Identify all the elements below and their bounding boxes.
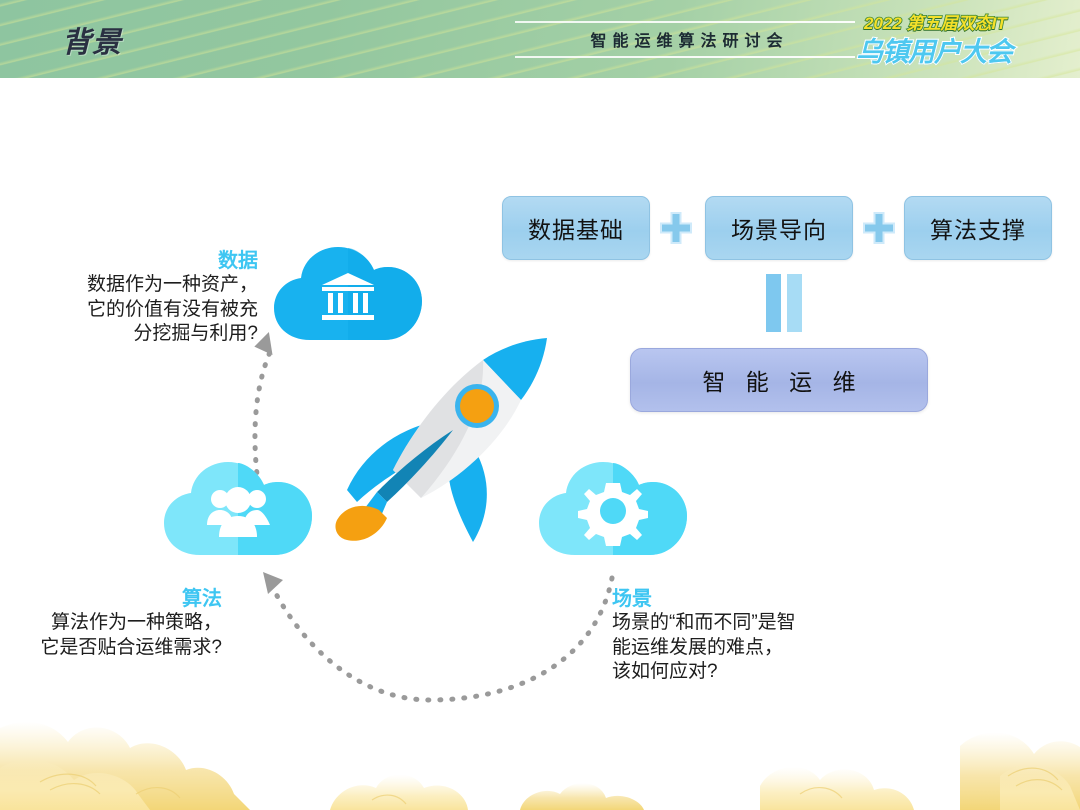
header-subtitle: 智能运维算法研讨会 bbox=[515, 27, 860, 51]
rocket-illustration bbox=[325, 330, 555, 565]
header-rule-top bbox=[515, 21, 855, 23]
formula-term-data: 数据基础 bbox=[502, 196, 650, 260]
pillar-desc-algorithm: 算法作为一种策略， 它是否贴合运维需求? bbox=[0, 611, 222, 660]
logo-line-2: 乌镇用户大会 bbox=[856, 30, 1012, 69]
page-title: 背景 bbox=[62, 19, 122, 61]
conference-logo: 2022 第五届双态IT 乌镇用户大会 bbox=[856, 9, 1026, 69]
formula-result-label: 智 能 运 维 bbox=[695, 363, 862, 397]
pillar-cloud-scene bbox=[533, 455, 693, 570]
formula-term-scene: 场景导向 bbox=[705, 196, 853, 260]
slide-header: 背景 智能运维算法研讨会 2022 第五届双态IT 乌镇用户大会 bbox=[0, 0, 1080, 78]
pillar-text-data: 数据 数据作为一种资产， 它的价值有没有被充 分挖掘与利用? bbox=[28, 250, 258, 347]
rocket-icon bbox=[325, 330, 555, 560]
pillar-label-data: 数据 bbox=[28, 250, 258, 273]
pillar-desc-data: 数据作为一种资产， 它的价值有没有被充 分挖掘与利用? bbox=[28, 273, 258, 347]
pillar-desc-scene: 场景的“和而不同”是智 能运维发展的难点， 该如何应对? bbox=[612, 611, 872, 685]
slide-root: 背景 智能运维算法研讨会 2022 第五届双态IT 乌镇用户大会 数据基础 场景… bbox=[0, 0, 1080, 810]
header-subtitle-group: 智能运维算法研讨会 bbox=[515, 21, 860, 58]
pillar-cloud-algorithm bbox=[158, 455, 318, 568]
pillar-text-scene: 场景 场景的“和而不同”是智 能运维发展的难点， 该如何应对? bbox=[612, 588, 872, 685]
header-rule-bottom bbox=[515, 56, 855, 58]
plus-icon-1 bbox=[659, 211, 693, 245]
pillar-text-algorithm: 算法 算法作为一种策略， 它是否贴合运维需求? bbox=[0, 588, 222, 660]
formula-term-data-label: 数据基础 bbox=[528, 211, 624, 245]
footer-cloud-decoration bbox=[0, 690, 1080, 810]
plus-icon-2 bbox=[862, 211, 896, 245]
pillar-label-scene: 场景 bbox=[612, 588, 872, 611]
equals-icon bbox=[763, 272, 805, 334]
gear-icon bbox=[578, 483, 648, 546]
formula-term-algorithm-label: 算法支撑 bbox=[930, 211, 1026, 245]
pillar-label-algorithm: 算法 bbox=[0, 588, 222, 611]
formula-term-scene-label: 场景导向 bbox=[731, 211, 827, 245]
formula-result-box: 智 能 运 维 bbox=[630, 348, 928, 412]
formula-term-algorithm: 算法支撑 bbox=[904, 196, 1052, 260]
